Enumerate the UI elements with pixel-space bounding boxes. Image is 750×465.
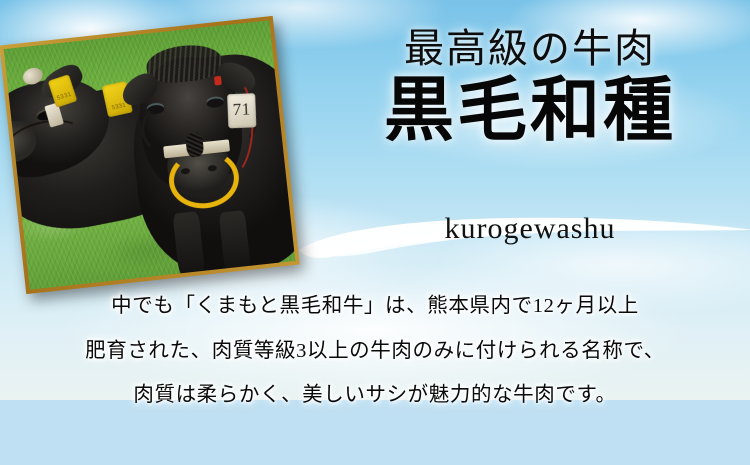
description-line-1: 中でも「くまもと黒毛和牛」は、熊本県内で12ヶ月以上 bbox=[0, 296, 750, 317]
photo-border: 5331 5331 bbox=[0, 16, 300, 294]
cattle-photo: 5331 5331 bbox=[0, 16, 300, 294]
description-line-2: 肥育された、肉質等級3以上の牛肉のみに付けられる名称で、 bbox=[0, 341, 750, 362]
romaji-subtitle: kurogewashu bbox=[330, 212, 730, 246]
headline-group: 最高級の牛肉 黒毛和種 bbox=[330, 28, 730, 147]
banner-root: 5331 5331 bbox=[0, 0, 750, 465]
kicker-text: 最高級の牛肉 bbox=[330, 28, 730, 70]
halter-strap-left bbox=[141, 102, 199, 156]
description-block: 中でも「くまもと黒毛和牛」は、熊本県内で12ヶ月以上 肥育された、肉質等級3以上… bbox=[0, 296, 750, 406]
ear-tag-white-number: 71 bbox=[227, 100, 256, 118]
red-clip bbox=[214, 76, 222, 86]
ear-tag-yellow-left-number: 5331 bbox=[53, 90, 76, 103]
description-line-3: 肉質は柔らかく、美しいサシが魅力的な牛肉です。 bbox=[0, 385, 750, 406]
ear-tag-white: 71 bbox=[227, 93, 256, 128]
photo-image: 5331 5331 bbox=[4, 20, 296, 289]
main-title: 黒毛和種 bbox=[330, 76, 730, 147]
